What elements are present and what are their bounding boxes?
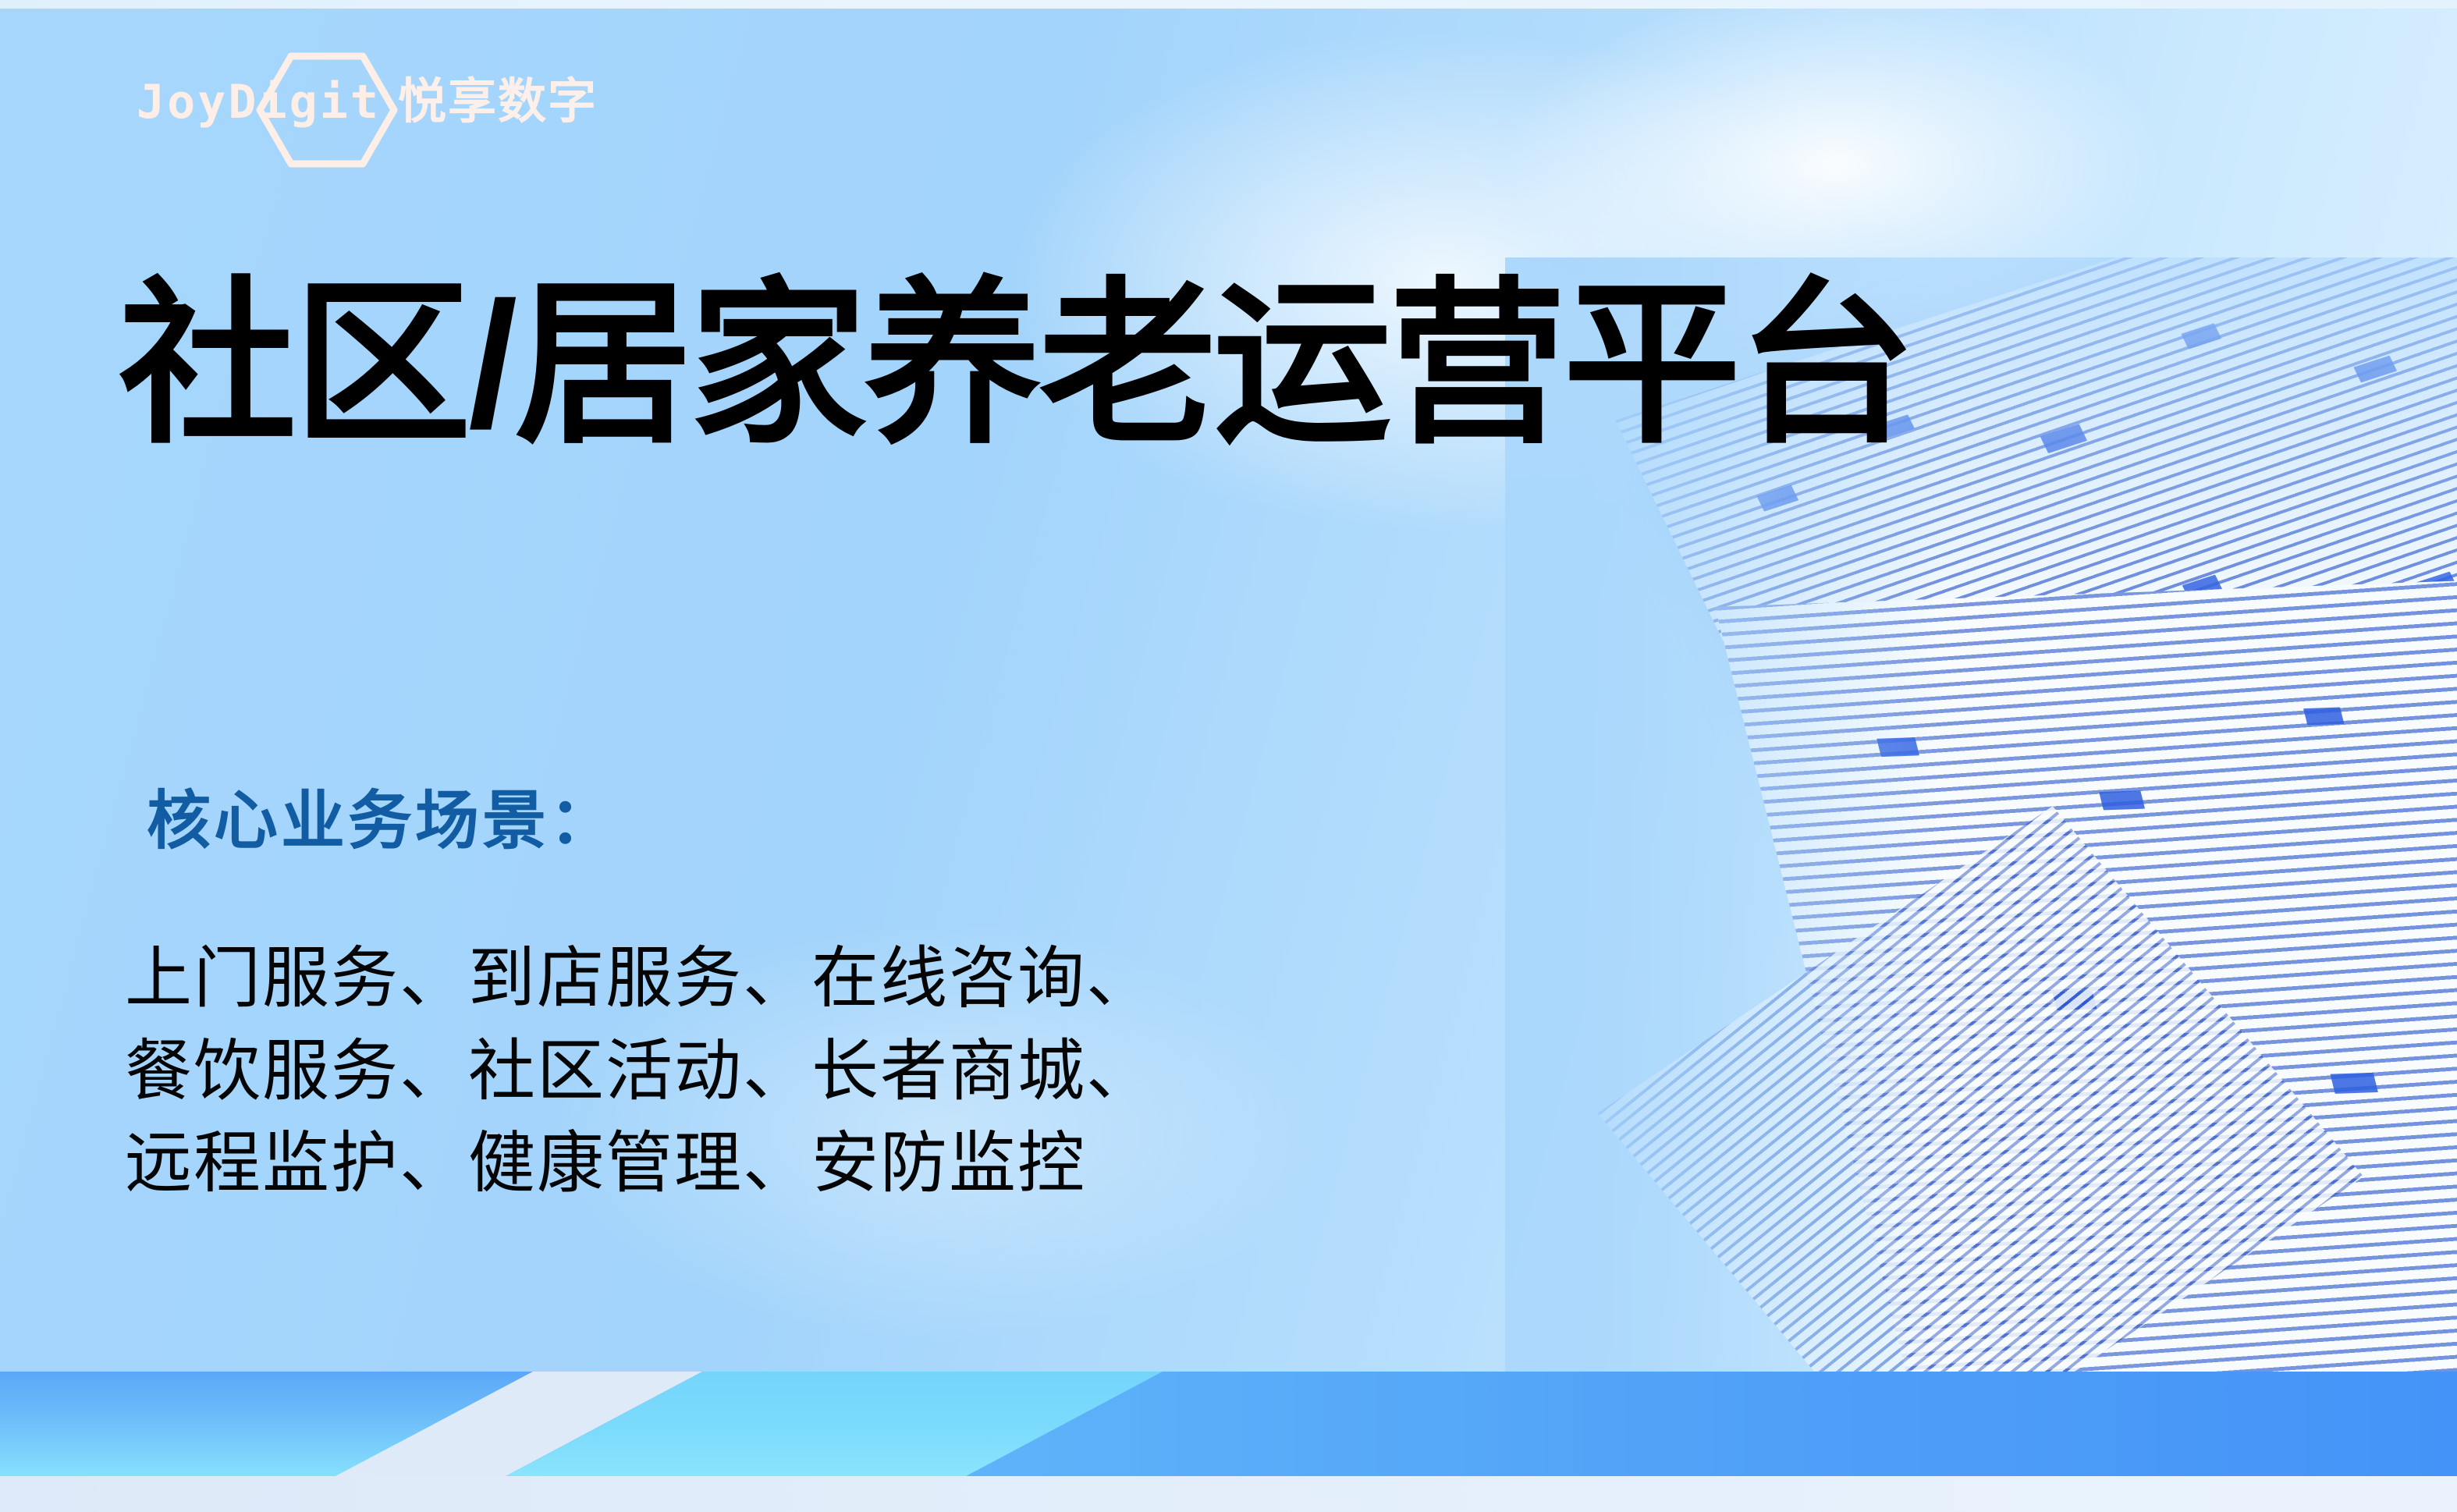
- scenario-list: 上门服务、到店服务、在线咨询、 餐饮服务、社区活动、长者商城、 远程监护、健康管…: [125, 932, 1155, 1210]
- top-edge-strip: [0, 0, 2457, 9]
- presentation-slide: JoyDigit 悦享数字 社区/居家养老运营平台 核心业务场景： 上门服务、到…: [0, 0, 2457, 1512]
- scenario-line: 餐饮服务、社区活动、长者商城、: [125, 1025, 1155, 1118]
- scenario-line: 远程监护、健康管理、安防监控: [125, 1117, 1155, 1210]
- page-title: 社区/居家养老运营平台: [119, 269, 1912, 461]
- scenario-line: 上门服务、到店服务、在线咨询、: [125, 932, 1155, 1025]
- section-heading: 核心业务场景：: [147, 768, 616, 861]
- footer-strip: [0, 1476, 2457, 1512]
- logo-wordmark-en: JoyDigit: [137, 79, 381, 126]
- logo-wordmark-cn: 悦享数字: [398, 78, 598, 126]
- brand-logo: JoyDigit 悦享数字: [137, 69, 598, 136]
